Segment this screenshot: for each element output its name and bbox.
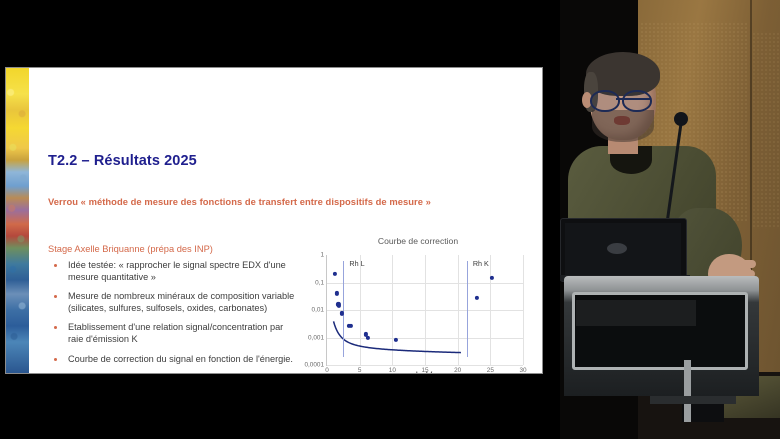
chart-edge-label: Rh K (473, 259, 489, 268)
list-item: Mesure de nombreux minéraux de compositi… (48, 291, 298, 314)
list-item-label: Mesure de nombreux minéraux de compositi… (68, 291, 294, 313)
chart-fit-curve (327, 255, 523, 365)
chart-gridline-h (327, 365, 523, 366)
speaker-beard (592, 110, 654, 142)
laptop (560, 218, 687, 282)
bullet-list: Idée testée: « rapprocher le signal spec… (48, 260, 298, 373)
geological-map-texture (6, 68, 29, 373)
list-item-label: Etablissement d'une relation signal/conc… (68, 322, 283, 344)
correction-curve-chart: Courbe de correction 10,10,010,0010,0001… (298, 236, 538, 373)
bullet-marker-icon (54, 295, 57, 298)
list-item: Etablissement d'une relation signal/conc… (48, 322, 298, 345)
chart-title: Courbe de correction (298, 236, 538, 246)
chart-y-tick-label: 0,0001 (304, 362, 324, 369)
speaker-video-pane (560, 0, 780, 439)
bullet-marker-icon (54, 264, 57, 267)
laptop-logo (607, 243, 627, 254)
chart-gridline-v (523, 255, 524, 365)
eyeglasses (588, 90, 660, 108)
chart-y-tick-label: 0,1 (315, 279, 324, 286)
chart-y-tick-label: 0,001 (308, 334, 324, 341)
wall-perforation-pattern-right (752, 32, 780, 228)
chart-y-tick-label: 1 (320, 252, 324, 259)
podium-leg (684, 360, 691, 422)
list-item-label: Courbe de correction du signal en foncti… (68, 354, 293, 364)
list-item: Idée testée: « rapprocher le signal spec… (48, 260, 298, 283)
bullet-marker-icon (54, 326, 57, 329)
page-title: T2.2 – Résultats 2025 (48, 153, 197, 169)
list-item: Courbe de correction du signal en foncti… (48, 354, 298, 366)
chart-absorption-edge-line (467, 261, 468, 357)
bullet-marker-icon (54, 358, 57, 361)
slide-subtitle: Verrou « méthode de mesure des fonctions… (48, 196, 431, 207)
podium-base (650, 396, 736, 404)
chart-edge-label: Rh L (349, 259, 364, 268)
chart-x-axis-label: keV (326, 370, 522, 373)
projected-slide: T2.2 – Résultats 2025 Verrou « méthode d… (6, 68, 542, 373)
screenshot-root: T2.2 – Résultats 2025 Verrou « méthode d… (0, 0, 780, 439)
internship-line: Stage Axelle Briquanne (prépa des INP) (48, 244, 213, 254)
chart-y-tick-label: 0,01 (312, 307, 324, 314)
speaker-mouth (614, 116, 630, 125)
microphone-head (674, 112, 688, 126)
chart-plot-area: 10,10,010,0010,0001051015202530Rh LRh K (326, 255, 523, 366)
podium-glare (576, 300, 696, 326)
chart-absorption-edge-line (343, 261, 344, 357)
list-item-label: Idée testée: « rapprocher le signal spec… (68, 260, 286, 282)
